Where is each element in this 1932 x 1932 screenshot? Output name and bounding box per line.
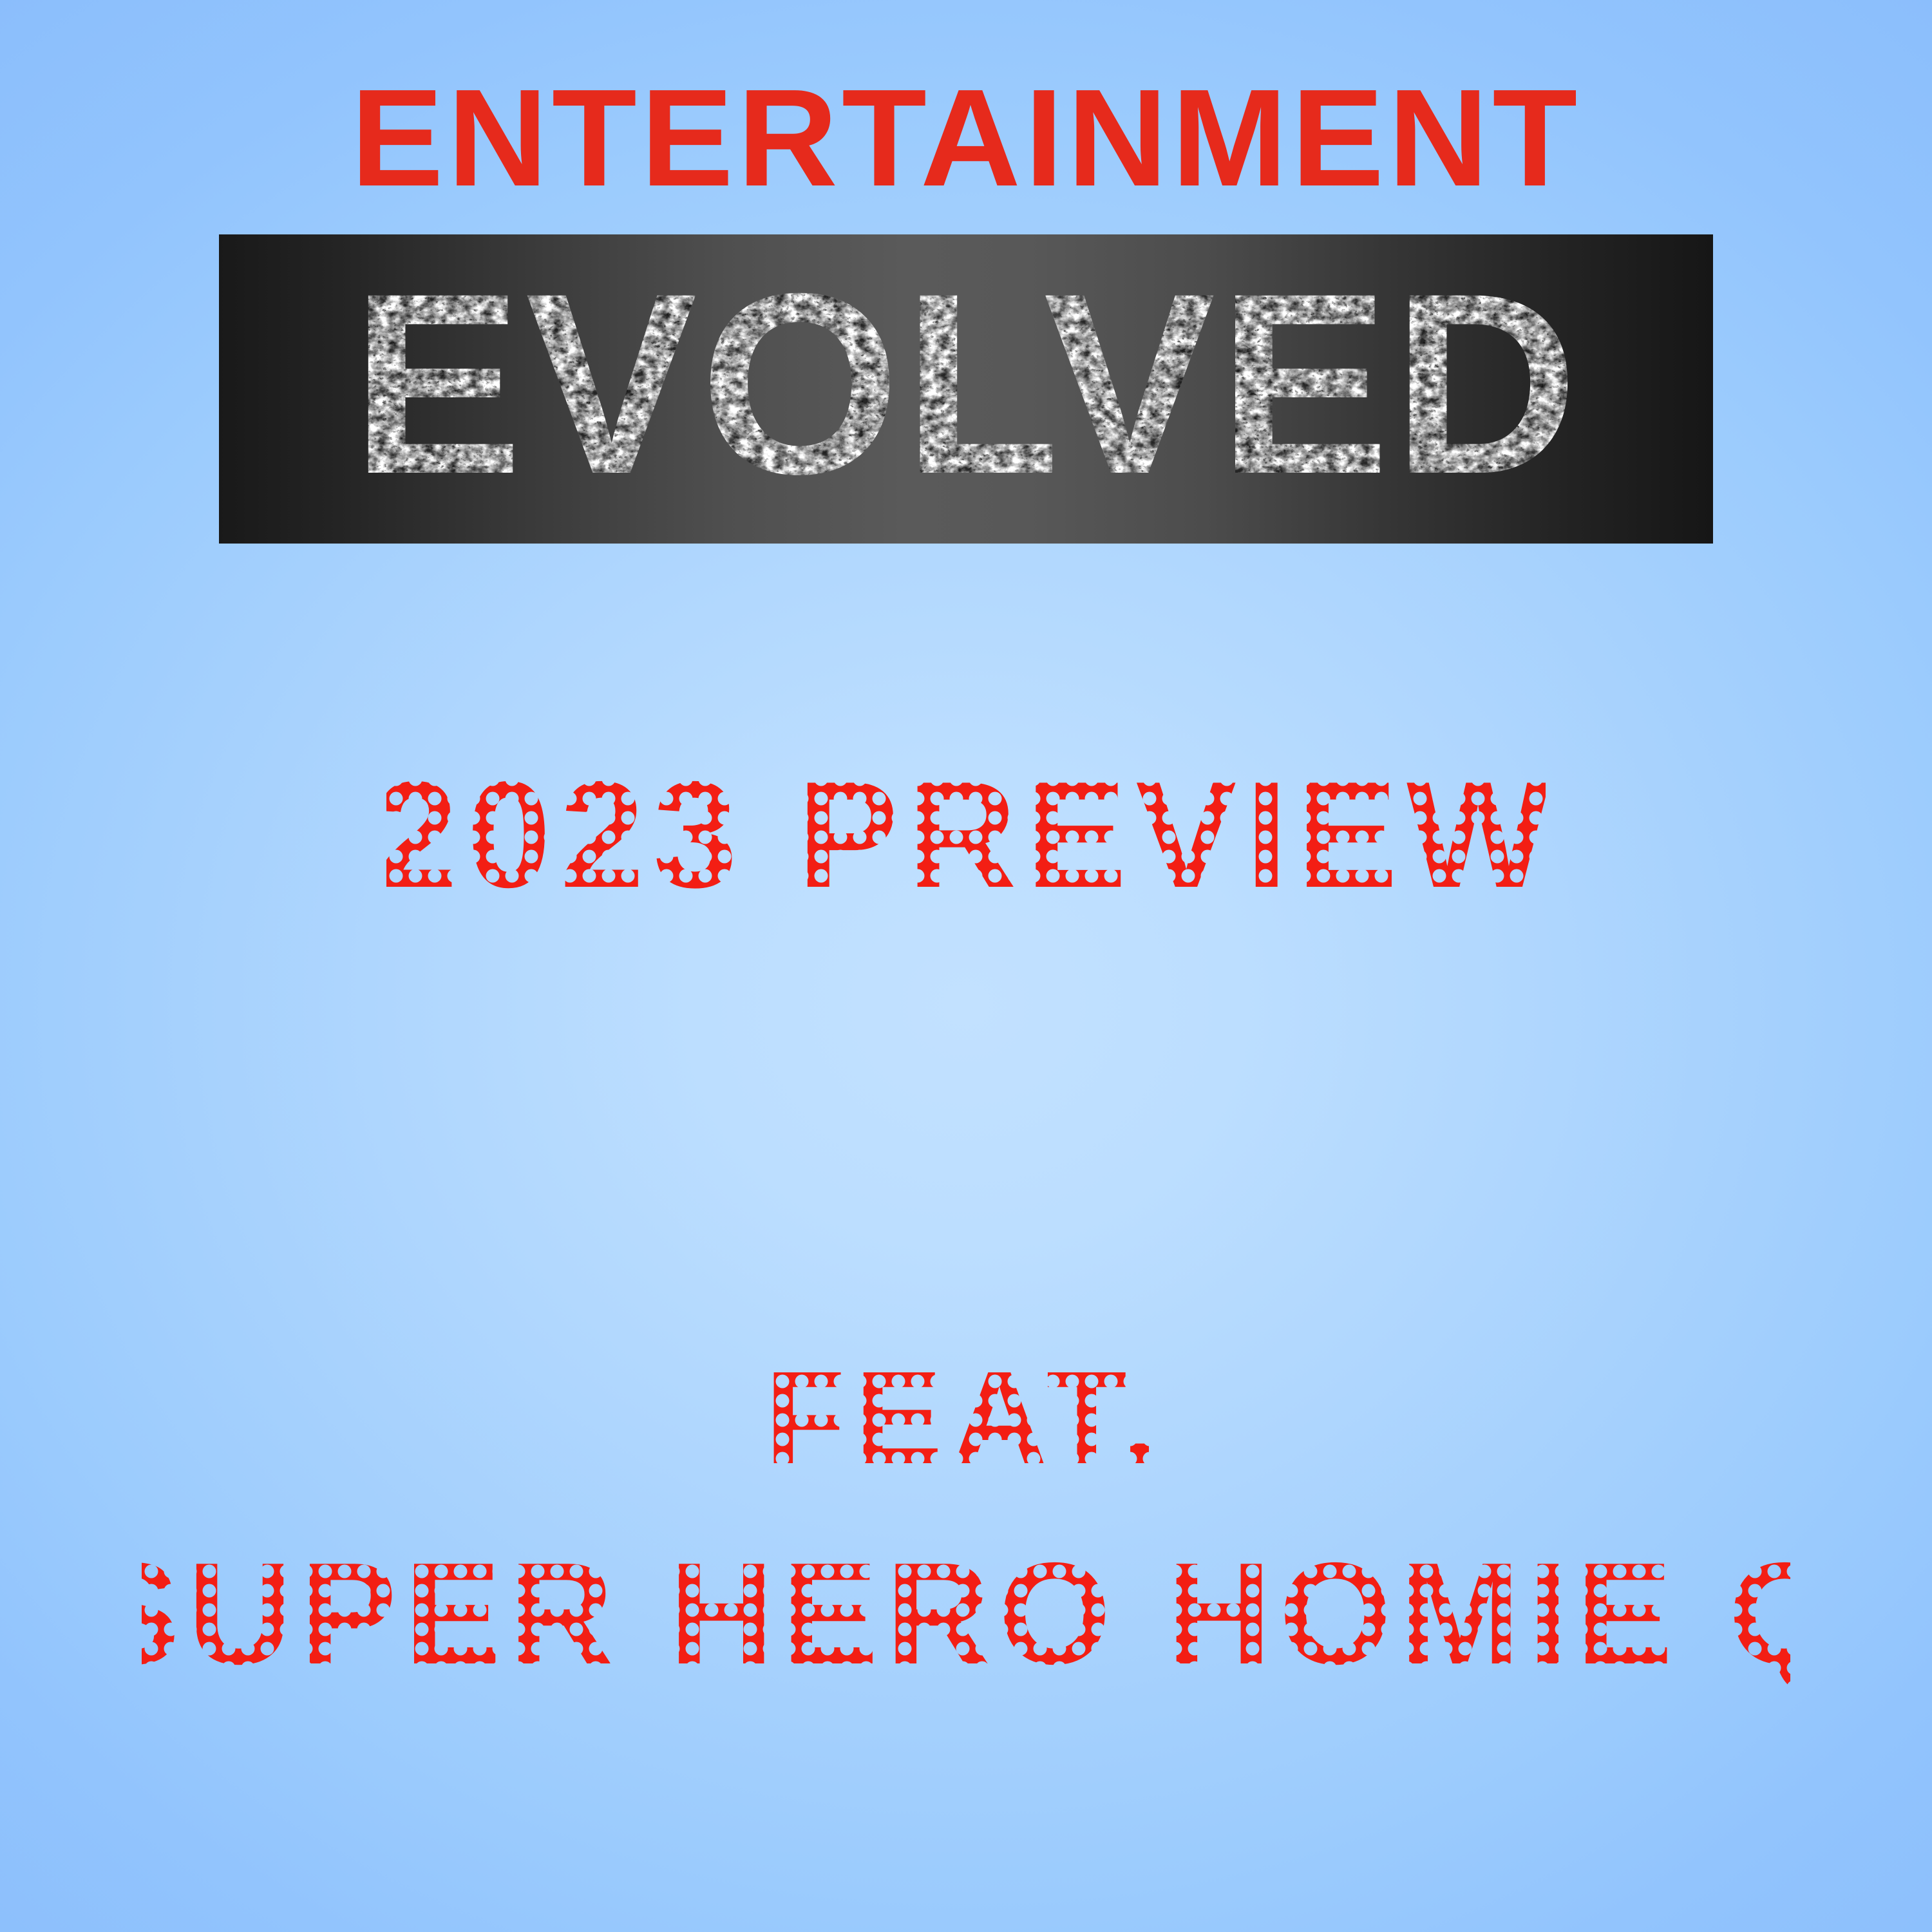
headline-block: ENTERTAINMENT xyxy=(0,71,1932,219)
subtitle-letters xyxy=(386,750,1546,918)
feature-artist-name: SUPER HERO HOMIE Q SUPER HERO HOMIE Q xyxy=(142,1542,1790,1690)
feature-label-feat: FEAT. FEAT. xyxy=(676,1352,1256,1488)
feature-label-letters xyxy=(676,1352,1256,1488)
feature-artist-block: SUPER HERO HOMIE Q SUPER HERO HOMIE Q xyxy=(0,1542,1932,1690)
headline-entertainment: ENTERTAINMENT xyxy=(225,71,1707,219)
headline-text: ENTERTAINMENT xyxy=(351,71,1582,215)
subtitle-block: 2023 PREVIEW 2023 PREVIEW xyxy=(0,750,1932,918)
feature-label-block: FEAT. FEAT. xyxy=(0,1352,1932,1488)
evolved-letters xyxy=(248,260,1684,518)
feature-artist-letters xyxy=(142,1542,1790,1690)
subtitle-2023-preview: 2023 PREVIEW 2023 PREVIEW xyxy=(386,750,1546,918)
evolved-banner-inner: EVOLVED EVOLVED xyxy=(219,234,1713,544)
evolved-wordmark: EVOLVED EVOLVED xyxy=(248,260,1684,518)
evolved-banner: EVOLVED EVOLVED xyxy=(219,234,1713,544)
poster-canvas: ENTERTAINMENT xyxy=(0,0,1932,1932)
